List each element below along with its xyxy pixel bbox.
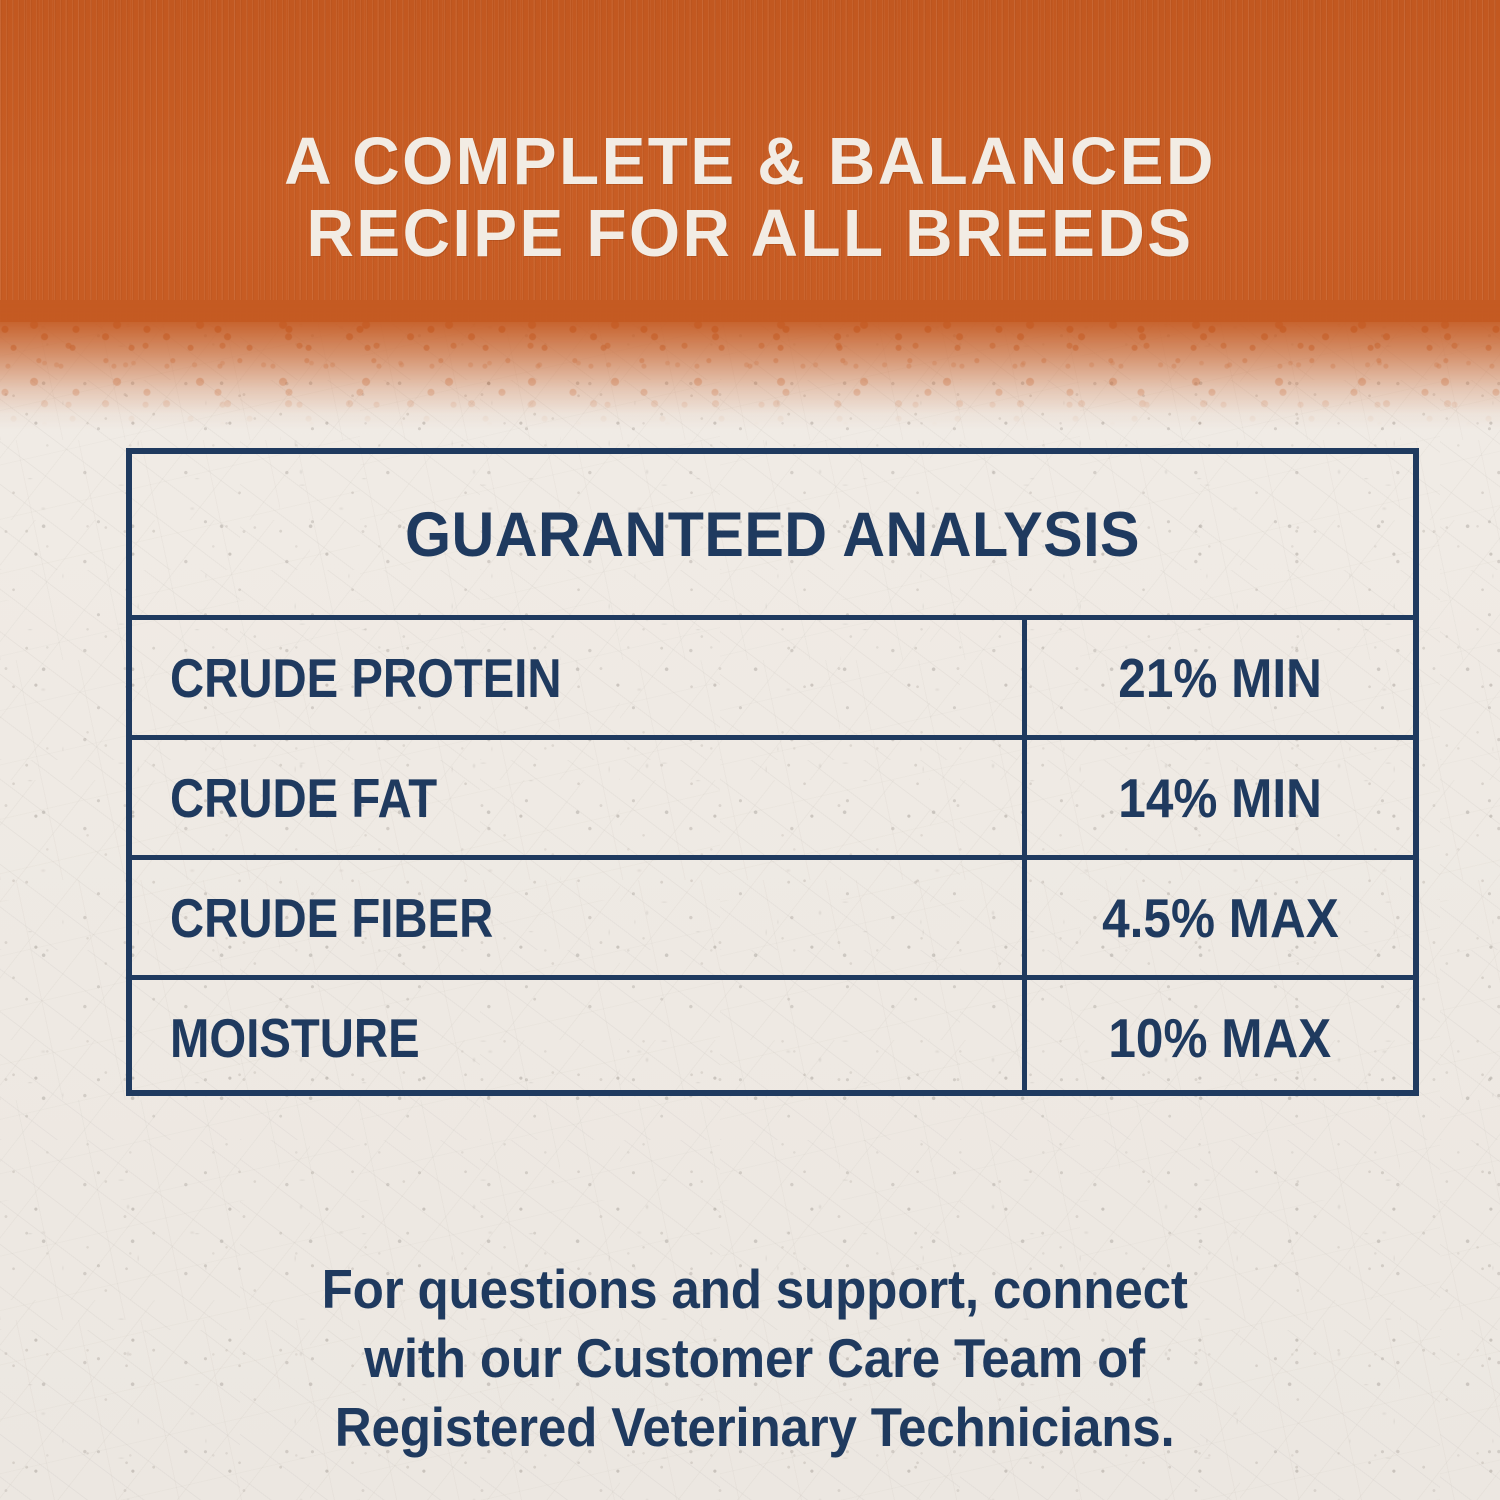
nutrient-label-text: MOISTURE [170,1006,420,1070]
nutrient-label-cell: CRUDE FIBER [132,860,1022,975]
nutrient-value-text: 10% MAX [1109,1006,1332,1070]
table-row: MOISTURE 10% MAX [132,975,1413,1095]
headline-text: A COMPLETE & BALANCED RECIPE FOR ALL BRE… [15,126,1485,270]
nutrient-label-cell: MOISTURE [132,980,1022,1095]
guaranteed-analysis-rows: CRUDE PROTEIN 21% MIN CRUDE FAT 14% MIN … [132,615,1413,1096]
guaranteed-analysis-panel: GUARANTEED ANALYSIS CRUDE PROTEIN 21% MI… [126,448,1419,1096]
table-row: CRUDE PROTEIN 21% MIN [132,615,1413,735]
nutrient-value-text: 4.5% MAX [1102,886,1339,950]
nutrient-label-text: CRUDE FIBER [170,886,493,950]
nutrient-label-cell: CRUDE PROTEIN [132,620,1022,735]
nutrient-value-text: 14% MIN [1118,766,1322,830]
nutrient-label-text: CRUDE FAT [170,766,437,830]
nutrient-value-cell: 10% MAX [1022,980,1413,1095]
orange-band-speckle-edge [0,318,1500,428]
nutrient-label-text: CRUDE PROTEIN [170,646,562,710]
table-row: CRUDE FIBER 4.5% MAX [132,855,1413,975]
customer-care-note: For questions and support, connect with … [120,1186,1390,1462]
nutrient-value-cell: 4.5% MAX [1022,860,1413,975]
table-row: CRUDE FAT 14% MIN [132,735,1413,855]
nutrient-value-text: 21% MIN [1118,646,1322,710]
guaranteed-analysis-title: GUARANTEED ANALYSIS [170,454,1374,615]
nutrient-value-cell: 14% MIN [1022,740,1413,855]
product-label-panel: A COMPLETE & BALANCED RECIPE FOR ALL BRE… [0,0,1500,1500]
customer-care-note-text: For questions and support, connect with … [322,1255,1188,1462]
nutrient-label-cell: CRUDE FAT [132,740,1022,855]
nutrient-value-cell: 21% MIN [1022,620,1413,735]
